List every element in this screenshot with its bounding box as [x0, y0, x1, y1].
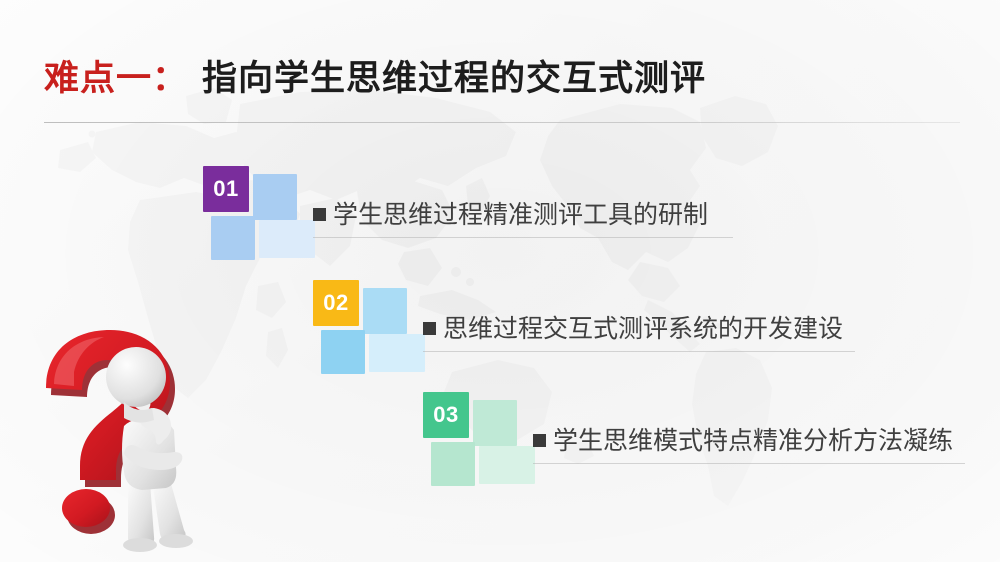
tile-cluster-03: 03	[423, 392, 523, 487]
tile-main-01[interactable]: 01	[203, 166, 249, 212]
item-text-wrap-01: 学生思维过程精准测评工具的研制	[313, 202, 733, 238]
item-group-03[interactable]: 03 学生思维模式特点精准分析方法凝练	[423, 392, 523, 487]
item-label-03: 学生思维模式特点精准分析方法凝练	[553, 428, 953, 456]
item-group-01[interactable]: 01 学生思维过程精准测评工具的研制	[203, 166, 303, 261]
item-group-02[interactable]: 02 思维过程交互式测评系统的开发建设	[313, 280, 413, 375]
item-number-01: 01	[213, 178, 238, 200]
item-label-01: 学生思维过程精准测评工具的研制	[333, 202, 708, 230]
tile-bottomright-01	[259, 220, 315, 258]
page-title: 难点一： 指向学生思维过程的交互式测评	[44, 50, 706, 101]
tile-cluster-01: 01	[203, 166, 303, 261]
bullet-square-icon	[533, 434, 546, 447]
tile-bottomleft-02	[321, 330, 365, 374]
tile-bottomright-02	[369, 334, 425, 372]
title-main: 指向学生思维过程的交互式测评	[202, 50, 706, 101]
slide-canvas: 难点一： 指向学生思维过程的交互式测评 01 学生思维过程精准测评工具的研制 0…	[0, 0, 1000, 562]
tile-bottomright-03	[479, 446, 535, 484]
item-text-wrap-03: 学生思维模式特点精准分析方法凝练	[533, 428, 965, 464]
tile-main-02[interactable]: 02	[313, 280, 359, 326]
tile-topright-01	[253, 174, 297, 220]
item-text-wrap-02: 思维过程交互式测评系统的开发建设	[423, 316, 855, 352]
tile-main-03[interactable]: 03	[423, 392, 469, 438]
bullet-square-icon	[313, 208, 326, 221]
item-underline-02	[423, 351, 855, 352]
question-mark-thinker-graphic	[24, 322, 224, 554]
tile-topright-03	[473, 400, 517, 446]
item-number-03: 03	[433, 404, 458, 426]
tile-topright-02	[363, 288, 407, 334]
title-prefix: 难点一：	[44, 50, 188, 101]
item-underline-01	[313, 237, 733, 238]
item-number-02: 02	[323, 292, 348, 314]
tile-bottomleft-01	[211, 216, 255, 260]
title-divider	[44, 122, 960, 123]
item-underline-03	[533, 463, 965, 464]
item-label-02: 思维过程交互式测评系统的开发建设	[443, 316, 843, 344]
tile-bottomleft-03	[431, 442, 475, 486]
tile-cluster-02: 02	[313, 280, 413, 375]
bullet-square-icon	[423, 322, 436, 335]
